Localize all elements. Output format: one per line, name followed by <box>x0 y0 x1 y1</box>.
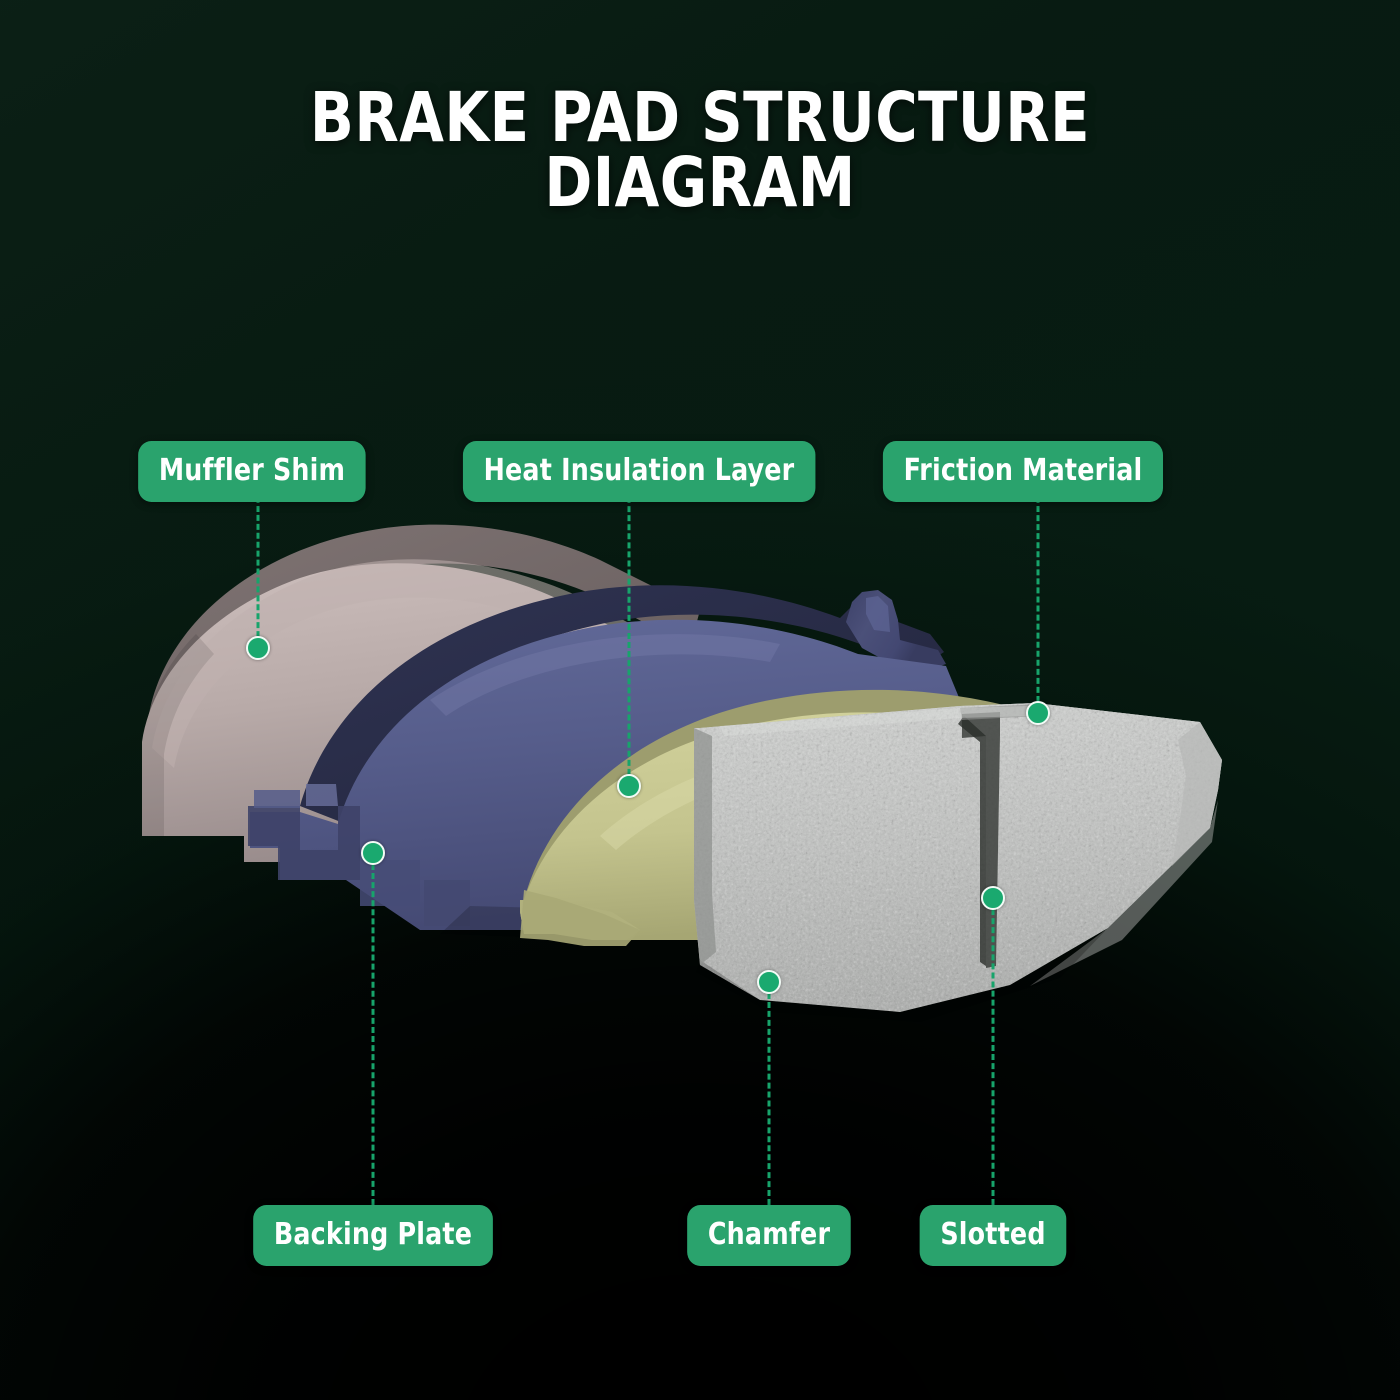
diagram-canvas: BRAKE PAD STRUCTURE DIAGRAM Muffler Shim… <box>0 0 1400 1400</box>
leader-line-slotted <box>992 909 995 1205</box>
leader-line-backing-plate <box>372 864 375 1205</box>
friction-material-part <box>650 690 1250 1040</box>
callout-label-slotted[interactable]: Slotted <box>920 1205 1067 1266</box>
callout-label-muffler-shim[interactable]: Muffler Shim <box>138 441 366 502</box>
marker-dot-chamfer[interactable] <box>757 970 781 994</box>
callout-label-backing-plate[interactable]: Backing Plate <box>253 1205 493 1266</box>
callout-label-chamfer[interactable]: Chamfer <box>687 1205 851 1266</box>
callout-label-friction-material[interactable]: Friction Material <box>883 441 1163 502</box>
leader-line-chamfer <box>768 993 771 1205</box>
callout-label-heat-insulation-layer[interactable]: Heat Insulation Layer <box>463 441 815 502</box>
marker-dot-muffler-shim[interactable] <box>246 636 270 660</box>
marker-dot-heat-insulation-layer[interactable] <box>617 774 641 798</box>
leader-line-friction-material <box>1037 497 1040 711</box>
page-title: BRAKE PAD STRUCTURE DIAGRAM <box>49 86 1351 216</box>
marker-dot-friction-material[interactable] <box>1026 701 1050 725</box>
leader-line-heat-insulation-layer <box>628 497 631 784</box>
title-line-2: DIAGRAM <box>49 151 1351 216</box>
marker-dot-backing-plate[interactable] <box>361 841 385 865</box>
leader-line-muffler-shim <box>257 497 260 646</box>
marker-dot-slotted[interactable] <box>981 886 1005 910</box>
